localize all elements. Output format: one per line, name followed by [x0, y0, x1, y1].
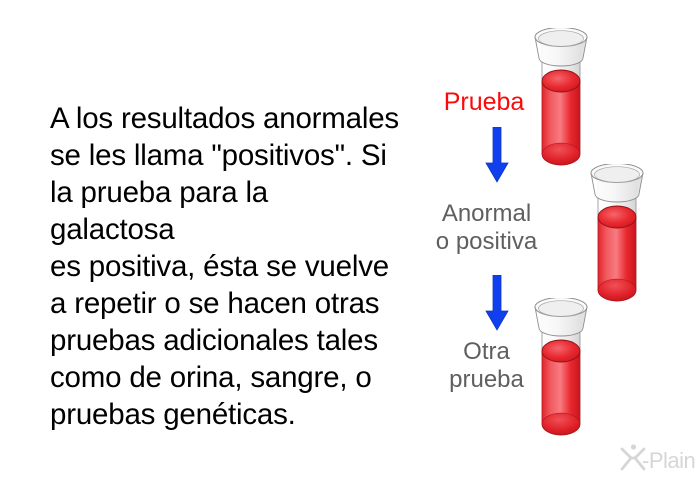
x-plain-logo: -Plain [620, 443, 696, 477]
body-paragraph: A los resultados anormales se les llama … [50, 100, 400, 433]
flow-label-anormal-positiva: Anormal o positiva [414, 200, 559, 256]
test-tube-icon-1 [530, 28, 592, 178]
slide-canvas: A los resultados anormales se les llama … [0, 0, 700, 480]
logo-wordmark: -Plain [642, 448, 695, 474]
down-arrow-icon-1 [483, 127, 511, 183]
test-tube-icon-3 [530, 298, 592, 448]
test-tube-icon-2 [586, 164, 648, 314]
flow-label-prueba: Prueba [424, 88, 544, 116]
down-arrow-icon-2 [483, 275, 511, 331]
